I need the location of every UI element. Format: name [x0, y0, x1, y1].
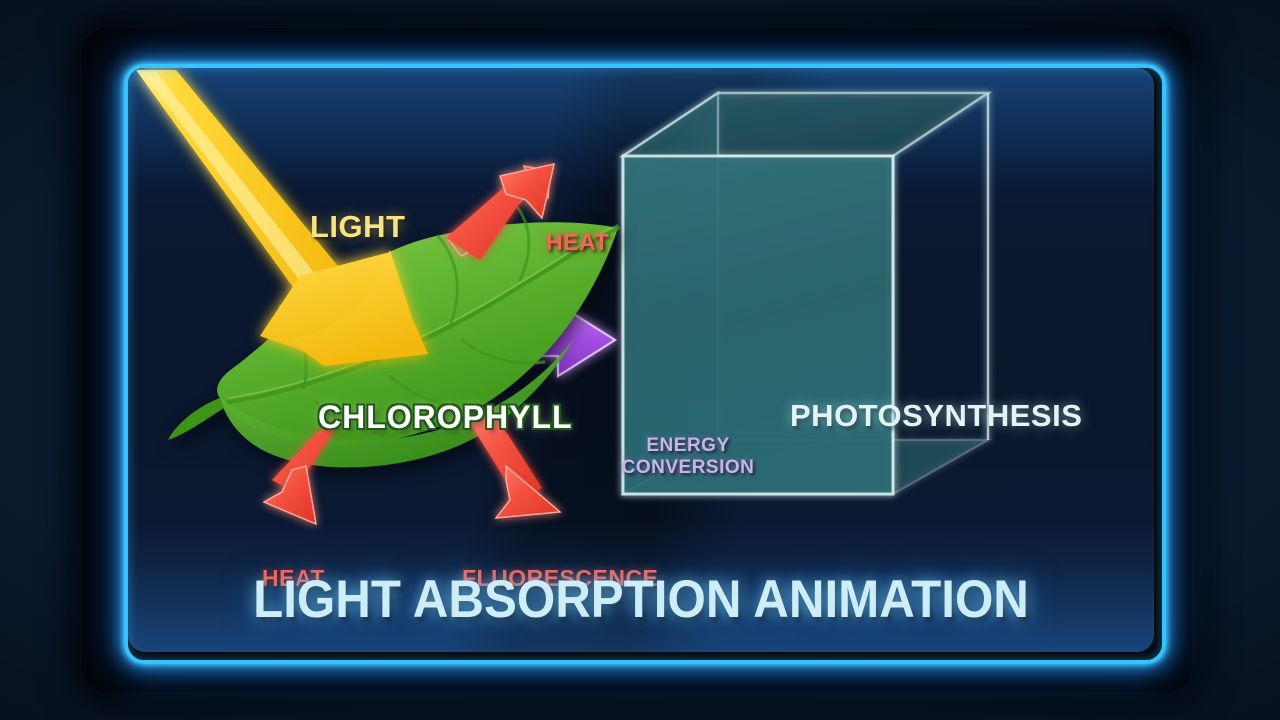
label-energy-conversion: ENERGY CONVERSION — [588, 435, 788, 479]
label-chlorophyll: CHLOROPHYLL — [318, 399, 573, 436]
label-heat-top: HEAT — [546, 229, 609, 256]
screen-area: LIGHT HEAT CHLOROPHYLL HEAT FLUORESCENCE… — [128, 68, 1154, 652]
label-photosynthesis: PHOTOSYNTHESIS — [790, 398, 1082, 434]
label-light: LIGHT — [310, 209, 406, 245]
page-title: LIGHT ABSORPTION ANIMATION — [164, 569, 1118, 630]
animation-frame: LIGHT HEAT CHLOROPHYLL HEAT FLUORESCENCE… — [0, 0, 1280, 720]
